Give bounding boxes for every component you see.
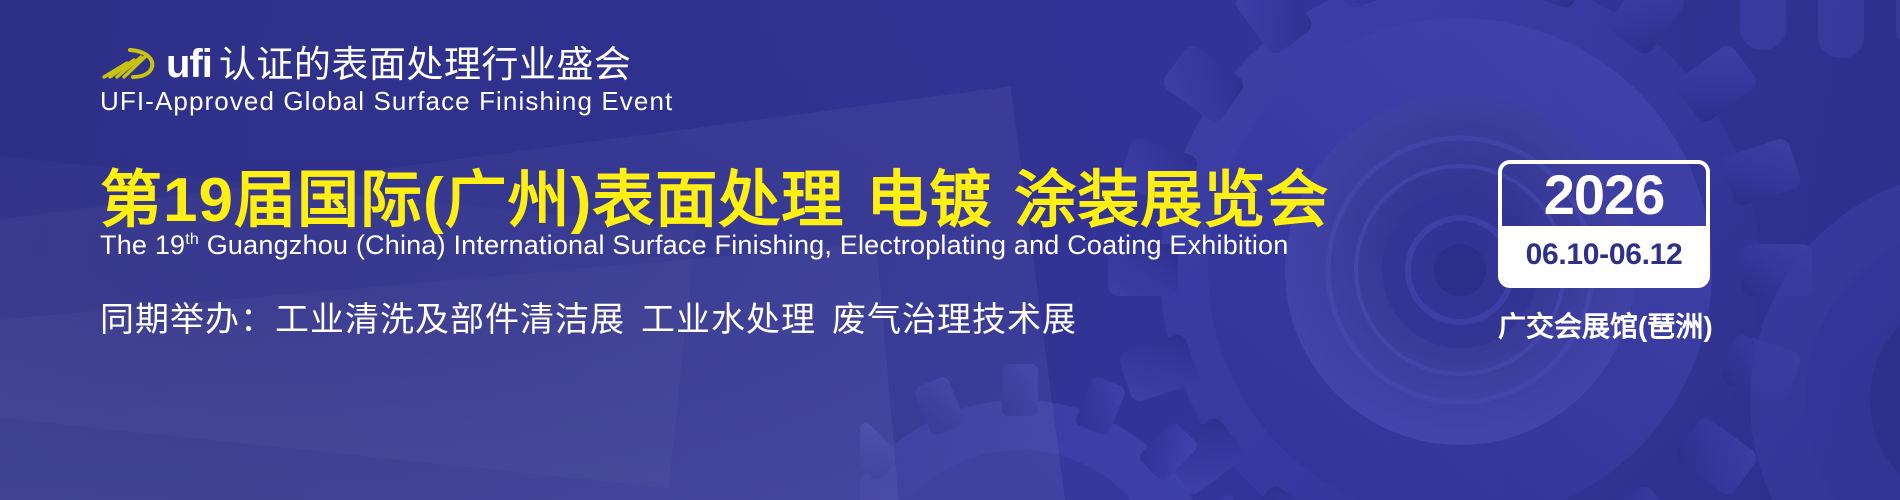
ufi-endorsement-en: UFI-Approved Global Surface Finishing Ev… [100,86,673,117]
event-year: 2026 [1502,164,1706,226]
concurrent-event-2: 工业水处理 [641,301,816,339]
main-title-en-prefix: The 19 [100,230,185,260]
event-venue: 广交会展馆(琶洲) [1498,305,1710,345]
banner-content: ufi 认证的表面处理行业盛会 UFI-Approved Global Surf… [0,0,1900,500]
main-title-cn: 第19届国际(广州)表面处理电镀涂装展览会 [100,168,1329,233]
concurrent-events-line: 同期举办：工业清洗及部件清洁展工业水处理废气治理技术展 [100,292,1077,341]
main-title-cn-part3: 涂装展览会 [1014,166,1329,235]
event-date-card: 2026 06.10-06.12 [1498,160,1710,288]
main-title-cn-part1: 第19届国际(广州)表面处理 [100,166,844,235]
main-title-en-rest: Guangzhou (China) International Surface … [199,230,1288,260]
ufi-endorsement-cn: 认证的表面处理行业盛会 [219,46,632,83]
concurrent-event-3: 废气治理技术展 [832,301,1077,339]
ufi-endorsement-row: ufi 认证的表面处理行业盛会 [100,40,631,88]
main-title-en: The 19th Guangzhou (China) International… [100,230,1288,261]
ufi-swoosh-icon [100,46,164,82]
main-title-en-ordinal: th [185,231,199,248]
ufi-wordmark: ufi [166,44,212,84]
concurrent-label: 同期举办： [100,301,275,339]
exhibition-banner: ufi 认证的表面处理行业盛会 UFI-Approved Global Surf… [0,0,1900,500]
event-date-range: 06.10-06.12 [1502,226,1706,284]
concurrent-event-1: 工业清洗及部件清洁展 [275,301,625,339]
main-title-cn-part2: 电镀 [866,166,992,235]
